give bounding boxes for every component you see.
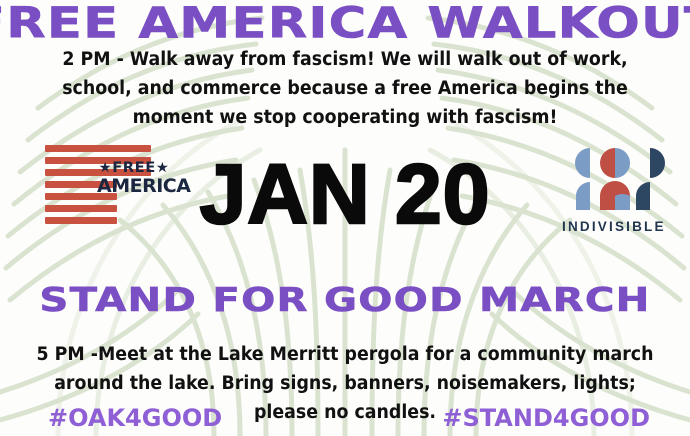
flyer-subtitle: STAND FOR GOOD MARCH <box>0 283 690 316</box>
indivisible-wordmark: INDIVISIBLE <box>560 219 666 234</box>
indivisible-logo: INDIVISIBLE <box>560 146 666 234</box>
body-top-line-1: 2 PM - Walk away from fascism! We will w… <box>21 45 670 74</box>
body-top-line-2: school, and commerce because a free Amer… <box>21 74 670 103</box>
event-flyer: FREE AMERICA WALKOUT 2 PM - Walk away fr… <box>0 0 690 436</box>
hashtag-oak4good: #OAK4GOOD <box>48 404 222 432</box>
body-bottom-line-1: 5 PM -Meet at the Lake Merritt pergola f… <box>21 340 670 369</box>
body-top-line-3: moment we stop cooperating with fascism! <box>21 103 670 132</box>
body-bottom-line-2: around the lake. Bring signs, banners, n… <box>21 369 670 398</box>
indivisible-mark-icon <box>560 146 666 212</box>
flyer-content: FREE AMERICA WALKOUT 2 PM - Walk away fr… <box>0 0 690 436</box>
hashtag-stand4good: #STAND4GOOD <box>442 404 650 432</box>
body-text-top: 2 PM - Walk away from fascism! We will w… <box>21 45 670 132</box>
flyer-title: FREE AMERICA WALKOUT <box>0 2 690 45</box>
